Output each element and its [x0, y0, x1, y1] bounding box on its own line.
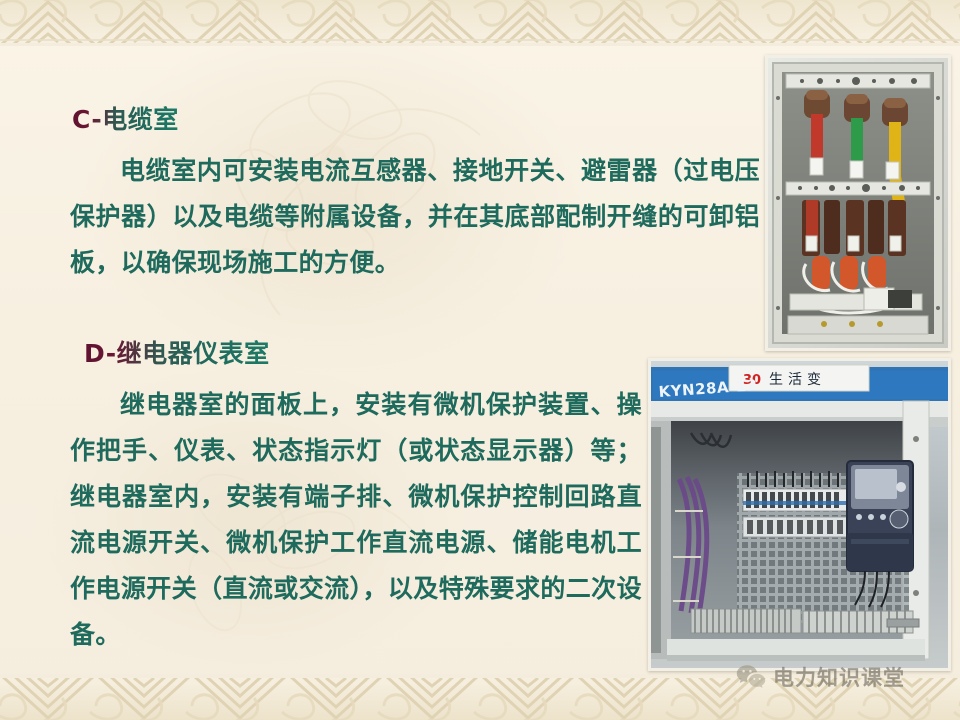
- svg-text:生活变: 生活变: [769, 372, 826, 388]
- section-heading-d: D-继电器仪表室: [84, 334, 270, 370]
- watermark-text: 电力知识课堂: [773, 662, 905, 692]
- photo-cable-compartment: [765, 55, 951, 351]
- section-body-c: 电缆室内可安装电流互感器、接地开关、避雷器（过电压保护器）以及电缆等附属设备，并…: [70, 148, 760, 286]
- watermark-logo: 电力知识课堂: [736, 660, 905, 694]
- slide-canvas: C-电缆室 电缆室内可安装电流互感器、接地开关、避雷器（过电压保护器）以及电缆等…: [0, 0, 960, 720]
- wechat-icon: [736, 664, 766, 690]
- section-body-d: 继电器室的面板上，安装有微机保护装置、操作把手、仪表、状态指示灯（或状态显示器）…: [70, 382, 642, 658]
- decorative-border-top: [0, 0, 960, 46]
- section-heading-c: C-电缆室: [72, 100, 179, 136]
- photo-relay-compartment: 30 生活变 KYN28A-12: [648, 358, 951, 671]
